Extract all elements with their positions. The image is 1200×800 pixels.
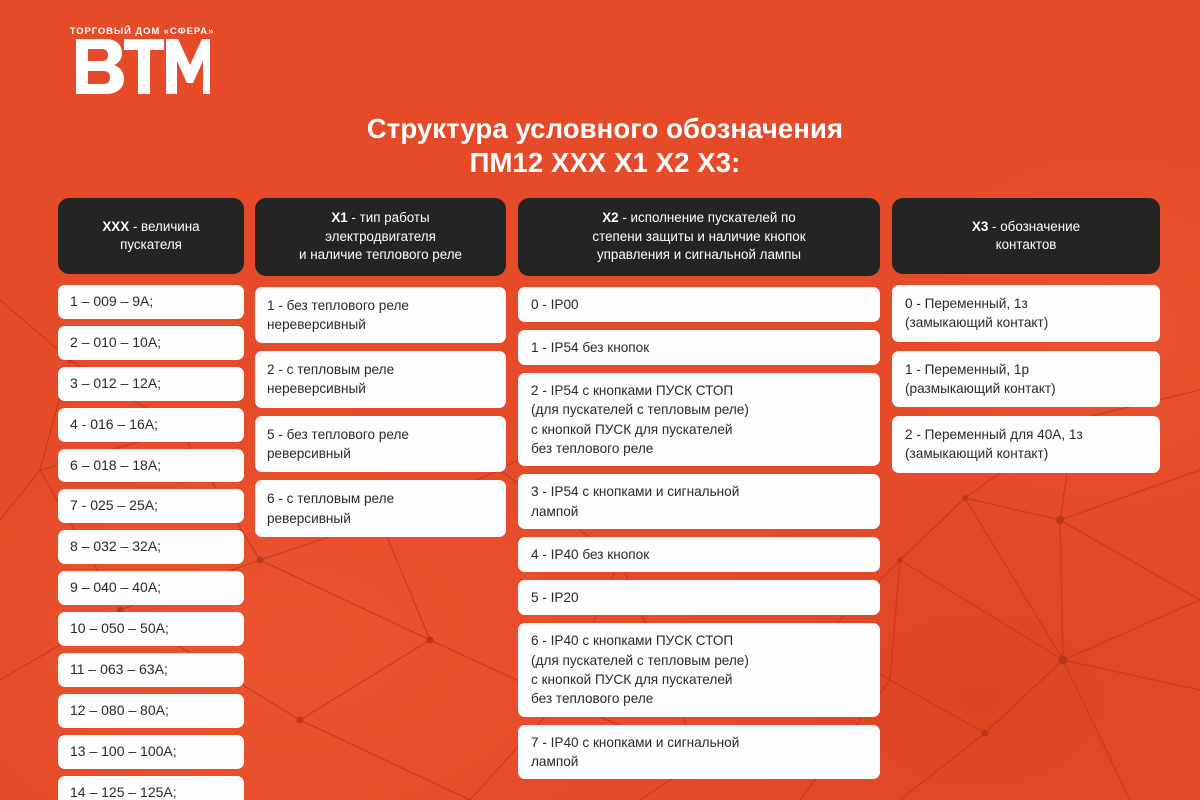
list-item[interactable]: 6 – 018 – 18А;	[58, 449, 244, 483]
column-header-rest-x1: - тип работы электродвигателя и наличие …	[299, 210, 462, 262]
brand-logo: ТОРГОВЫЙ ДОМ «СФЕРА»	[62, 26, 222, 101]
list-item[interactable]: 1 – 009 – 9А;	[58, 285, 244, 319]
column-code-x3: X3	[972, 219, 988, 234]
list-item[interactable]: 12 – 080 – 80А;	[58, 694, 244, 728]
brand-tagline: ТОРГОВЫЙ ДОМ «СФЕРА»	[62, 26, 222, 37]
column-code-x1: X1	[331, 210, 347, 225]
column-header-text-x2: X2 - исполнение пускателей по степени за…	[592, 209, 805, 265]
list-item[interactable]: 4 - 016 – 16А;	[58, 408, 244, 442]
column-code-xxx: XXX	[102, 219, 129, 234]
list-item[interactable]: 2 – 010 – 10А;	[58, 326, 244, 360]
column-header-text-xxx: XXX - величина пускателя	[102, 218, 199, 255]
column-items-xxx: 1 – 009 – 9А; 2 – 010 – 10А; 3 – 012 – 1…	[58, 285, 244, 800]
list-item[interactable]: 6 - с тепловым реле реверсивный	[255, 480, 506, 537]
column-x1: X1 - тип работы электродвигателя и налич…	[255, 198, 506, 545]
column-x2: X2 - исполнение пускателей по степени за…	[518, 198, 880, 787]
list-item[interactable]: 1 - Переменный, 1р (размыкающий контакт)	[892, 351, 1160, 408]
list-item[interactable]: 3 – 012 – 12А;	[58, 367, 244, 401]
column-header-x1: X1 - тип работы электродвигателя и налич…	[255, 198, 506, 276]
column-items-x3: 0 - Переменный, 1з (замыкающий контакт) …	[892, 285, 1160, 473]
list-item[interactable]: 5 - IP20	[518, 580, 880, 615]
page-title: Структура условного обозначения ПМ12 XXX…	[255, 112, 955, 179]
list-item[interactable]: 7 - IP40 с кнопками и сигнальной лампой	[518, 725, 880, 780]
column-header-rest-xxx: - величина пускателя	[120, 219, 200, 253]
list-item[interactable]: 14 – 125 – 125А;	[58, 776, 244, 800]
page-title-line-2: ПМ12 XXX X1 X2 X3:	[255, 146, 955, 180]
list-item[interactable]: 4 - IP40 без кнопок	[518, 537, 880, 572]
column-header-xxx: XXX - величина пускателя	[58, 198, 244, 274]
list-item[interactable]: 1 - IP54 без кнопок	[518, 330, 880, 365]
column-items-x2: 0 - IP00 1 - IP54 без кнопок 2 - IP54 с …	[518, 287, 880, 780]
column-header-rest-x2: - исполнение пускателей по степени защит…	[592, 210, 805, 262]
infographic-page: ТОРГОВЫЙ ДОМ «СФЕРА» Структура условного…	[0, 0, 1200, 800]
column-xxx: XXX - величина пускателя 1 – 009 – 9А; 2…	[58, 198, 244, 800]
list-item[interactable]: 7 - 025 – 25А;	[58, 489, 244, 523]
list-item[interactable]: 1 - без теплового реле нереверсивный	[255, 287, 506, 344]
column-x3: X3 - обозначение контактов 0 - Переменны…	[892, 198, 1160, 482]
designation-columns: XXX - величина пускателя 1 – 009 – 9А; 2…	[0, 198, 1200, 798]
list-item[interactable]: 3 - IP54 с кнопками и сигнальной лампой	[518, 474, 880, 529]
column-code-x2: X2	[602, 210, 618, 225]
list-item[interactable]: 8 – 032 – 32А;	[58, 530, 244, 564]
list-item[interactable]: 13 – 100 – 100А;	[58, 735, 244, 769]
list-item[interactable]: 9 – 040 – 40А;	[58, 571, 244, 605]
vtm-logo-icon	[74, 39, 210, 101]
page-title-line-1: Структура условного обозначения	[255, 112, 955, 146]
column-header-rest-x3: - обозначение контактов	[988, 219, 1080, 253]
list-item[interactable]: 5 - без теплового реле реверсивный	[255, 416, 506, 473]
list-item[interactable]: 0 - Переменный, 1з (замыкающий контакт)	[892, 285, 1160, 342]
list-item[interactable]: 6 - IP40 с кнопками ПУСК СТОП (для пуска…	[518, 623, 880, 716]
column-header-x3: X3 - обозначение контактов	[892, 198, 1160, 274]
column-items-x1: 1 - без теплового реле нереверсивный 2 -…	[255, 287, 506, 537]
list-item[interactable]: 2 - с тепловым реле нереверсивный	[255, 351, 506, 408]
list-item[interactable]: 11 – 063 – 63А;	[58, 653, 244, 687]
column-header-x2: X2 - исполнение пускателей по степени за…	[518, 198, 880, 276]
list-item[interactable]: 2 - IP54 с кнопками ПУСК СТОП (для пуска…	[518, 373, 880, 466]
list-item[interactable]: 10 – 050 – 50А;	[58, 612, 244, 646]
column-header-text-x3: X3 - обозначение контактов	[972, 218, 1080, 255]
list-item[interactable]: 0 - IP00	[518, 287, 880, 322]
column-header-text-x1: X1 - тип работы электродвигателя и налич…	[299, 209, 462, 265]
list-item[interactable]: 2 - Переменный для 40А, 1з (замыкающий к…	[892, 416, 1160, 473]
